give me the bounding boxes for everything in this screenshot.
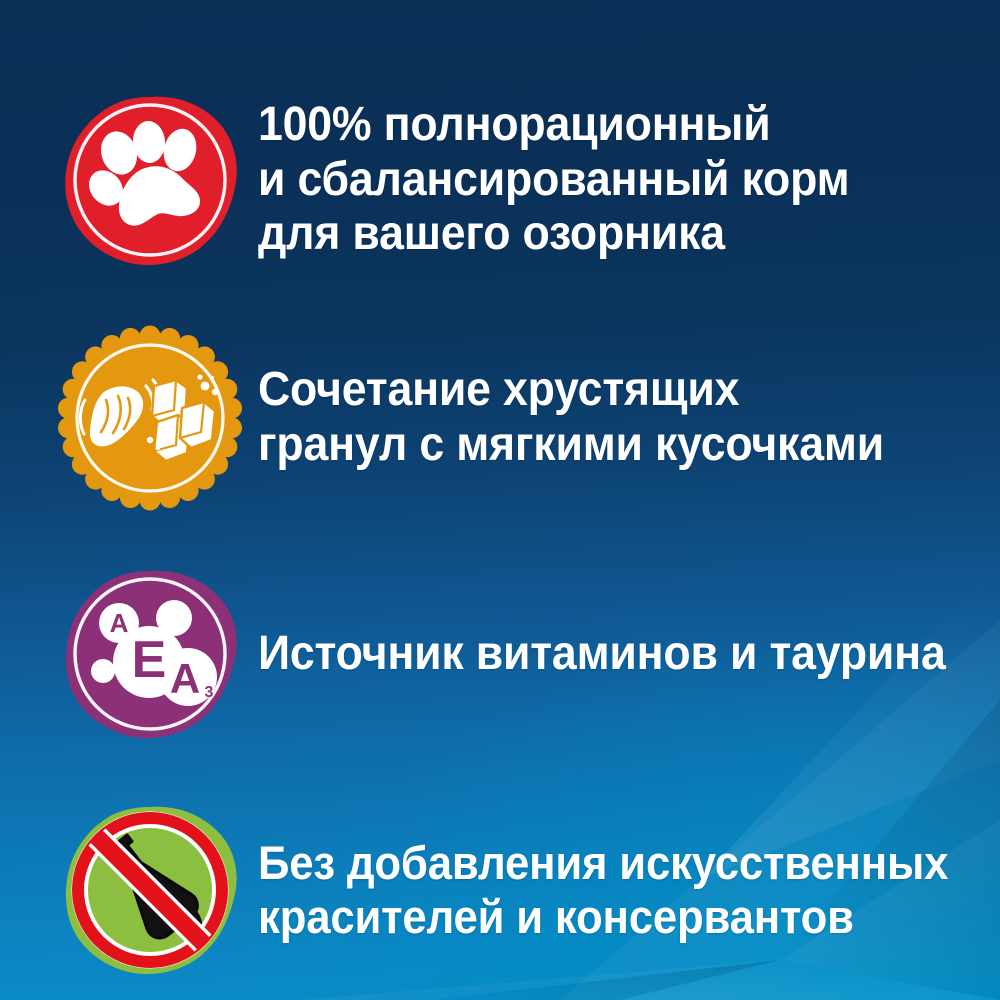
feature-text-vitamins-taurine: Источник витаминов и таурина	[258, 627, 959, 682]
no-additives-flask-icon	[57, 797, 243, 983]
promo-banner: 100% полнорационный и сбалансированный к…	[0, 0, 1000, 1000]
feature-row-vitamins-taurine: A E A 3 Источник витаминов и таурина	[0, 536, 1000, 772]
paw-print-icon	[57, 87, 243, 273]
feature-line: красителей и консервантов	[258, 890, 948, 944]
feature-line: 100% полнорационный	[258, 98, 935, 153]
feature-line: гранул с мягкими кусочками	[258, 418, 935, 473]
feature-line: для вашего озорника	[258, 207, 935, 262]
feature-text-no-artificial-additives: Без добавления искусственных красителей …	[258, 836, 961, 943]
feature-line: Без добавления искусственных	[258, 836, 948, 890]
feature-line: и сбалансированный корм	[258, 153, 935, 208]
vitamin-letter-a-small: A	[110, 608, 129, 638]
kibble-chunks-icon	[54, 322, 246, 514]
feature-text-crunchy-soft-mix: Сочетание хрустящих гранул с мягкими кус…	[258, 363, 948, 472]
feature-text-complete-balanced: 100% полнорационный и сбалансированный к…	[258, 98, 948, 262]
badge-slot	[0, 797, 300, 983]
badge-slot	[0, 87, 300, 273]
vitamin-letter-a: A	[170, 655, 200, 702]
feature-row-no-artificial-additives: Без добавления искусственных красителей …	[0, 772, 1000, 1000]
badge-slot	[0, 322, 300, 514]
feature-row-complete-balanced: 100% полнорационный и сбалансированный к…	[0, 62, 1000, 298]
feature-line: Источник витаминов и таурина	[258, 627, 946, 682]
vitamin-bubbles-icon: A E A 3	[57, 561, 243, 747]
badge-slot: A E A 3	[0, 561, 300, 747]
feature-line: Сочетание хрустящих	[258, 363, 935, 418]
feature-row-crunchy-soft-mix: Сочетание хрустящих гранул с мягкими кус…	[0, 300, 1000, 536]
vitamin-subscript-3: 3	[205, 684, 214, 701]
vitamin-letter-e: E	[132, 631, 167, 689]
